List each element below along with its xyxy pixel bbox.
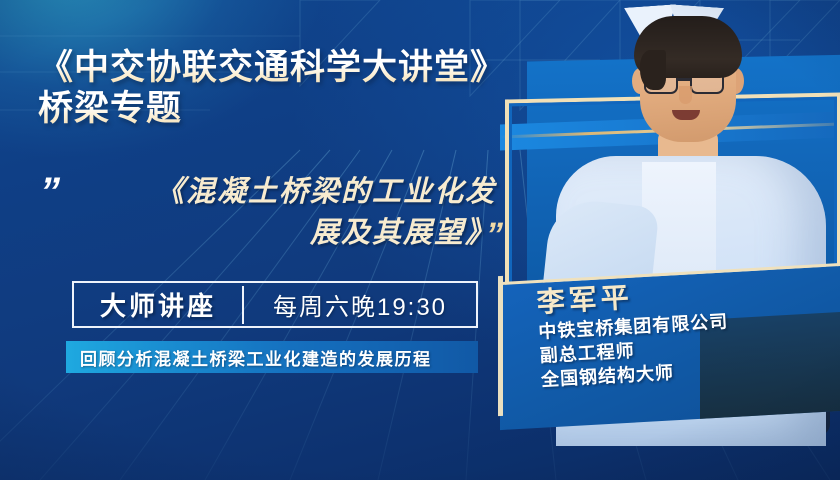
subtitle-text: 回顾分析混凝土桥梁工业化建造的发展历程 (66, 345, 432, 370)
quote-open-mark: ” (36, 172, 63, 212)
quote-line-2: 展及其展望》 (84, 213, 496, 254)
lecture-topic-quote: 《混凝土桥梁的工业化发 展及其展望》 (84, 172, 496, 254)
headline-line-1: 《中交协联交通科学大讲堂》 (38, 47, 638, 88)
schedule-label: 大师讲座 (74, 286, 242, 323)
subtitle-bar: 回顾分析混凝土桥梁工业化建造的发展历程 (66, 341, 478, 373)
poster-headline: 《中交协联交通科学大讲堂》 桥梁专题 (38, 47, 638, 130)
schedule-box: 大师讲座 每周六晚19:30 (72, 281, 478, 328)
poster-canvas: 《中交协联交通科学大讲堂》 桥梁专题 ” 《混凝土桥梁的工业化发 展及其展望》 … (0, 0, 840, 480)
speaker-panel-left-accent (498, 276, 503, 416)
portrait-hair (634, 16, 742, 78)
schedule-time: 每周六晚19:30 (244, 287, 476, 322)
glasses-bridge-icon (678, 78, 692, 81)
quote-line-1: 《混凝土桥梁的工业化发 (84, 172, 496, 213)
speaker-info-text: 李军平 中铁宝桥集团有限公司 副总工程师 全国钢结构大师 (536, 271, 840, 392)
headline-line-2: 桥梁专题 (38, 88, 638, 129)
portrait-mouth (672, 110, 700, 120)
portrait-nose (679, 86, 692, 104)
